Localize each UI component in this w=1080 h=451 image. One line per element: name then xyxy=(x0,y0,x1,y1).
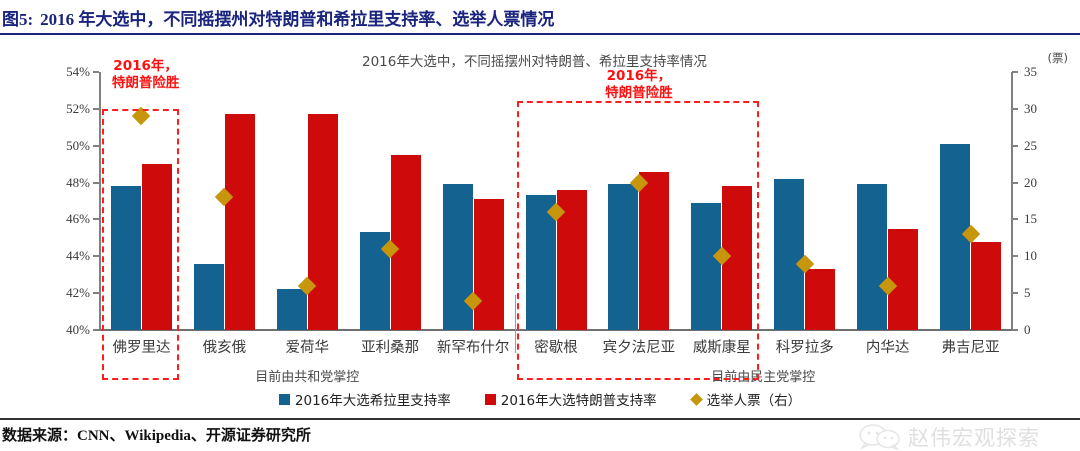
wechat-icon xyxy=(858,424,902,450)
left-axis-tick-label: 54% xyxy=(66,64,90,80)
figure-page: 图5: 2016 年大选中，不同摇摆州对特朗普和希拉里支持率、选举人票情况 20… xyxy=(0,0,1080,451)
left-axis-tick xyxy=(93,255,99,257)
x-axis-label: 内华达 xyxy=(866,336,910,357)
highlight-note-right-line2: 特朗普险胜 xyxy=(605,85,673,101)
left-axis-tick-label: 46% xyxy=(66,211,90,227)
right-axis-tick-label: 30 xyxy=(1024,101,1037,117)
left-axis-tick xyxy=(93,182,99,184)
highlight-note-right-line1: 2016年， xyxy=(607,68,672,84)
source-note: 数据来源：CNN、Wikipedia、开源证券研究所 xyxy=(2,424,311,445)
left-axis-tick xyxy=(93,145,99,147)
x-axis-label: 科罗拉多 xyxy=(776,336,834,357)
left-axis-tick xyxy=(93,108,99,110)
legend-swatch xyxy=(485,394,496,405)
legend-item[interactable]: 2016年大选希拉里支持率 xyxy=(279,389,451,409)
left-axis-tick xyxy=(93,292,99,294)
watermark-text: 赵伟宏观探索 xyxy=(908,422,1040,451)
left-axis-tick-label: 52% xyxy=(66,101,90,117)
left-axis-tick xyxy=(93,71,99,73)
title-divider xyxy=(0,33,1080,35)
right-axis-tick-label: 35 xyxy=(1024,64,1037,80)
legend-diamond-icon xyxy=(690,393,703,406)
left-axis-tick xyxy=(93,329,99,331)
control-note-republican: 目前由共和党掌控 xyxy=(255,366,359,385)
left-axis-tick-label: 42% xyxy=(66,285,90,301)
right-axis-tick xyxy=(1012,329,1018,331)
left-axis-tick xyxy=(93,218,99,220)
chart-subtitle: 2016年大选中，不同摇摆州对特朗普、希拉里支持率情况 xyxy=(362,50,707,70)
footer-divider xyxy=(0,418,1080,420)
x-axis-label: 亚利桑那 xyxy=(361,336,419,357)
highlight-box-left xyxy=(102,109,179,380)
chart-legend: 2016年大选希拉里支持率2016年大选特朗普支持率选举人票（右） xyxy=(0,389,1080,409)
highlight-note-left-line1: 2016年， xyxy=(113,58,178,74)
legend-swatch xyxy=(279,394,290,405)
right-axis-tick-label: 5 xyxy=(1024,285,1031,301)
highlight-note-left-line2: 特朗普险胜 xyxy=(112,75,180,91)
x-axis-label: 弗吉尼亚 xyxy=(942,336,1000,357)
highlight-note-right: 2016年， 特朗普险胜 xyxy=(605,68,673,102)
legend-item[interactable]: 选举人票（右） xyxy=(691,389,802,409)
left-axis-tick-label: 40% xyxy=(66,322,90,338)
section-separator xyxy=(515,295,516,353)
left-axis-tick-label: 50% xyxy=(66,138,90,154)
legend-label: 选举人票（右） xyxy=(707,389,802,409)
chart-area: 2016年大选中，不同摇摆州对特朗普、希拉里支持率情况 (票) 40%42%44… xyxy=(0,36,1080,418)
page-title: 2016 年大选中，不同摇摆州对特朗普和希拉里支持率、选举人票情况 xyxy=(40,5,554,30)
right-axis-tick-label: 0 xyxy=(1024,322,1031,338)
right-axis-tick-label: 10 xyxy=(1024,248,1037,264)
legend-label: 2016年大选希拉里支持率 xyxy=(295,389,451,409)
x-axis-label: 俄亥俄 xyxy=(203,336,247,357)
highlight-box-right xyxy=(517,101,760,380)
right-axis-tick xyxy=(1012,145,1018,147)
right-axis-tick xyxy=(1012,255,1018,257)
x-axis-label: 新罕布什尔 xyxy=(437,336,510,357)
right-axis-tick-label: 25 xyxy=(1024,138,1037,154)
right-axis-unit: (票) xyxy=(1048,50,1068,66)
bar-trump-support xyxy=(971,242,1001,330)
right-axis-tick xyxy=(1012,71,1018,73)
legend-label: 2016年大选特朗普支持率 xyxy=(501,389,657,409)
watermark: 赵伟宏观探索 xyxy=(858,422,1040,451)
right-axis-tick-label: 20 xyxy=(1024,175,1037,191)
figure-title-row: 图5: 2016 年大选中，不同摇摆州对特朗普和希拉里支持率、选举人票情况 xyxy=(0,3,1080,32)
highlight-note-left: 2016年， 特朗普险胜 xyxy=(112,58,180,92)
right-axis-tick-label: 15 xyxy=(1024,211,1037,227)
x-axis-label: 爱荷华 xyxy=(286,336,330,357)
right-axis-tick xyxy=(1012,292,1018,294)
right-axis-tick xyxy=(1012,218,1018,220)
right-axis-tick xyxy=(1012,182,1018,184)
left-axis-tick-label: 44% xyxy=(66,248,90,264)
left-axis-tick-label: 48% xyxy=(66,175,90,191)
figure-number: 图5: xyxy=(2,5,33,30)
right-axis-tick xyxy=(1012,108,1018,110)
legend-item[interactable]: 2016年大选特朗普支持率 xyxy=(485,389,657,409)
